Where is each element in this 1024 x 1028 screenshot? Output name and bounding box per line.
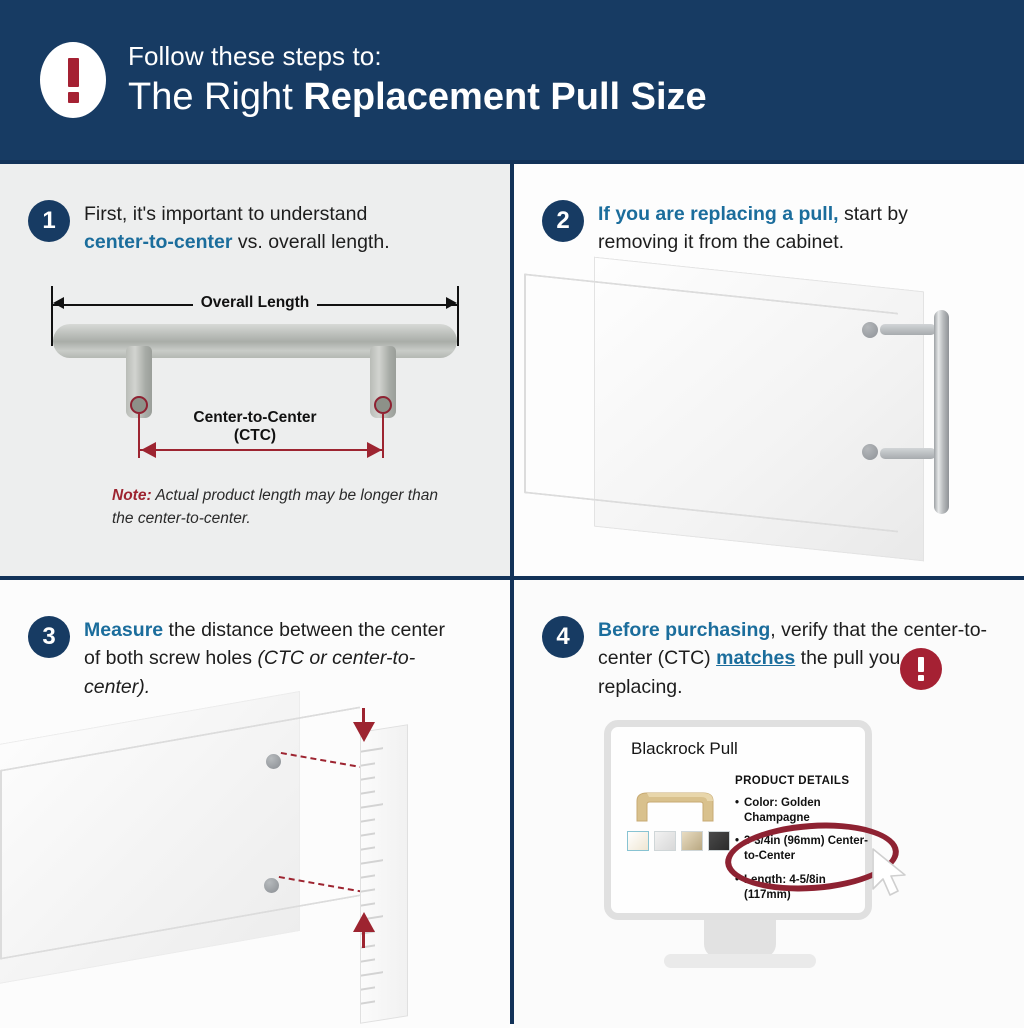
product-page-monitor: Blackrock Pull PRODUCT DETAILS Color: Go… <box>604 720 872 920</box>
step-number-1: 1 <box>28 200 70 242</box>
thumbnail-2[interactable] <box>681 831 703 851</box>
monitor-base <box>664 954 816 968</box>
step-panel-3: 3 Measure the distance between the cente… <box>0 580 510 1028</box>
page-title-bold: Replacement Pull Size <box>303 76 706 118</box>
note-text: Actual product length may be longer than… <box>112 487 438 527</box>
step-panel-4: 4 Before purchasing, verify that the cen… <box>514 580 1024 1028</box>
step-panel-1: 1 First, it's important to understand ce… <box>0 164 510 576</box>
step-2-copy: If you are replacing a pull, start by re… <box>598 200 942 257</box>
product-details-heading: PRODUCT DETAILS <box>735 775 873 787</box>
cabinet-door-graphic <box>594 257 924 562</box>
step-panel-2: 2 If you are replacing a pull, start by … <box>514 164 1024 576</box>
overall-length-label: Overall Length <box>40 294 470 312</box>
step-2-header: 2 If you are replacing a pull, start by … <box>542 200 942 257</box>
matches-link[interactable]: matches <box>716 647 795 669</box>
thumbnail-3[interactable] <box>708 831 730 851</box>
ctc-measure-line <box>139 449 383 451</box>
ctc-arrow-right-icon <box>367 442 382 458</box>
page-header: Follow these steps to: The Right Replace… <box>0 0 1024 160</box>
page-title: The Right Replacement Pull Size <box>128 76 707 119</box>
screw-hole-lower-3 <box>264 878 279 893</box>
pull-dimension-diagram: Overall Length Center-to-Center (CTC) <box>40 294 470 474</box>
step-3-accent: Measure <box>84 619 163 641</box>
step-2-accent: If you are replacing a pull, <box>598 203 839 225</box>
pull-post-left <box>126 346 152 418</box>
ctc-label: Center-to-Center (CTC) <box>100 409 410 445</box>
ctc-drop-right <box>382 414 384 458</box>
ctc-arrow-left-icon <box>141 442 156 458</box>
page-title-light: The Right <box>128 76 303 118</box>
step-3-header: 3 Measure the distance between the cente… <box>28 616 448 701</box>
screw-hole-upper-3 <box>266 754 281 769</box>
step-1-line2: vs. overall length. <box>232 231 389 253</box>
arrow-stem-up <box>362 932 365 948</box>
arrow-up-icon <box>353 912 375 932</box>
step-1-header: 1 First, it's important to understand ce… <box>28 200 458 257</box>
pull-stem-lower <box>880 448 936 459</box>
thumbnail-0[interactable] <box>627 831 649 851</box>
exclamation-circle-icon <box>40 42 106 118</box>
product-title: Blackrock Pull <box>631 739 738 759</box>
cabinet-door-graphic-3 <box>0 691 300 989</box>
bar-pull-installed <box>934 310 949 514</box>
steps-grid: 1 First, it's important to understand ce… <box>0 160 1024 1024</box>
step-number-3: 3 <box>28 616 70 658</box>
exclamation-circle-icon-4 <box>900 648 942 690</box>
infographic-page: Follow these steps to: The Right Replace… <box>0 0 1024 1024</box>
step-number-4: 4 <box>542 616 584 658</box>
detail-item-0: Color: Golden Champagne <box>735 796 873 825</box>
step-1-line1: First, it's important to understand <box>84 203 367 225</box>
pull-post-right <box>370 346 396 418</box>
step-number-2: 2 <box>542 200 584 242</box>
product-thumbnails[interactable] <box>627 831 730 851</box>
note-label: Note: <box>112 487 152 504</box>
arrow-down-icon <box>353 722 375 742</box>
ruler-graphic <box>360 724 408 1024</box>
monitor-neck <box>704 920 776 958</box>
step-1-copy: First, it's important to understand cent… <box>84 200 390 257</box>
bar-pull-graphic <box>53 324 457 358</box>
ctc-drop-left <box>138 414 140 458</box>
step-1-note: Note: Actual product length may be longe… <box>112 484 442 531</box>
step-1-accent: center-to-center <box>84 231 232 253</box>
screw-hole-upper <box>862 322 878 338</box>
product-image <box>627 771 723 827</box>
pull-stem-upper <box>880 324 936 335</box>
header-kicker: Follow these steps to: <box>128 41 707 72</box>
screw-hole-lower <box>862 444 878 460</box>
thumbnail-1[interactable] <box>654 831 676 851</box>
header-text-block: Follow these steps to: The Right Replace… <box>128 41 707 119</box>
step-4-accent: Before purchasing <box>598 619 770 641</box>
mouse-pointer-icon <box>869 847 911 899</box>
step-3-copy: Measure the distance between the center … <box>84 616 448 701</box>
